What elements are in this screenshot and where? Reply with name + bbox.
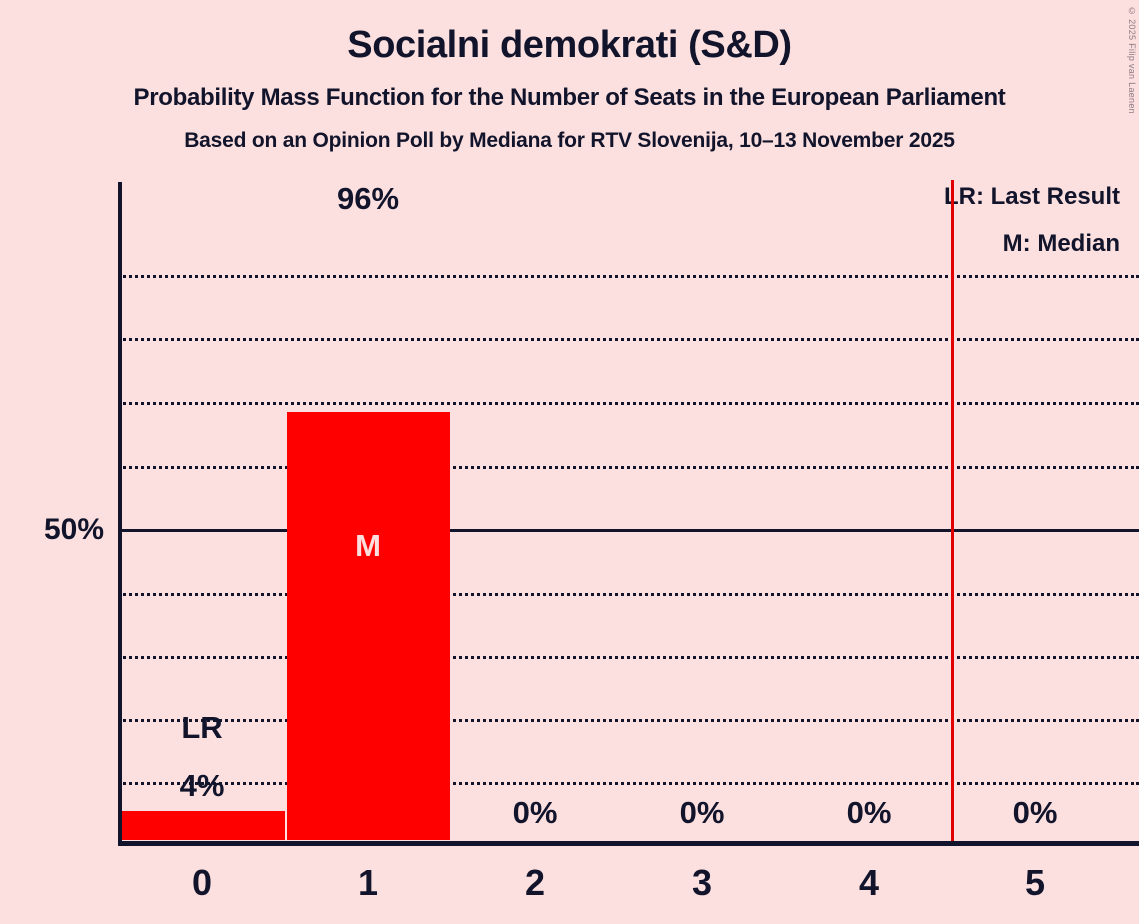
gridline-10 [118,782,1139,785]
x-axis-line [118,841,1139,846]
bar-3-value-label: 0% [680,795,725,831]
gridline-50 [118,529,1139,532]
bar-2-value-label: 0% [513,795,558,831]
x-tick-label-5: 5 [1025,862,1045,904]
chart-source-caption: Based on an Opinion Poll by Mediana for … [0,130,1139,151]
page-title: Socialni demokrati (S&D) [0,26,1139,64]
chart-subtitle: Probability Mass Function for the Number… [0,86,1139,110]
chart-root: Socialni demokrati (S&D) Probability Mas… [0,0,1139,924]
bar-1-median-label: M [355,528,381,564]
x-tick-label-1: 1 [358,862,378,904]
plot-area: 50% LR 4% 96% M 0% 0% 0% 0% [118,182,1139,845]
gridline-90 [118,275,1139,278]
copyright-notice: © 2025 Filip van Laenen [1127,6,1137,114]
last-result-line [951,180,954,841]
chart-header: Socialni demokrati (S&D) Probability Mas… [0,0,1139,151]
x-axis-tick-labels: 0 1 2 3 4 5 [118,862,1139,922]
y-tick-label-50: 50% [44,513,104,547]
bar-0[interactable] [118,811,285,840]
gridline-80 [118,338,1139,341]
x-tick-label-0: 0 [192,862,212,904]
bar-1-value-label: 96% [337,181,399,217]
bar-0-last-result-label: LR [181,710,222,746]
bar-5-value-label: 0% [1013,795,1058,831]
x-tick-label-3: 3 [692,862,712,904]
bar-0-value-label: 4% [180,768,225,804]
gridline-40 [118,593,1139,596]
bar-4-value-label: 0% [847,795,892,831]
gridline-20 [118,719,1139,722]
x-tick-label-4: 4 [859,862,879,904]
gridline-30 [118,656,1139,659]
gridline-70 [118,402,1139,405]
y-axis-line [118,182,122,845]
gridline-60 [118,466,1139,469]
bar-1[interactable] [287,412,450,840]
x-tick-label-2: 2 [525,862,545,904]
